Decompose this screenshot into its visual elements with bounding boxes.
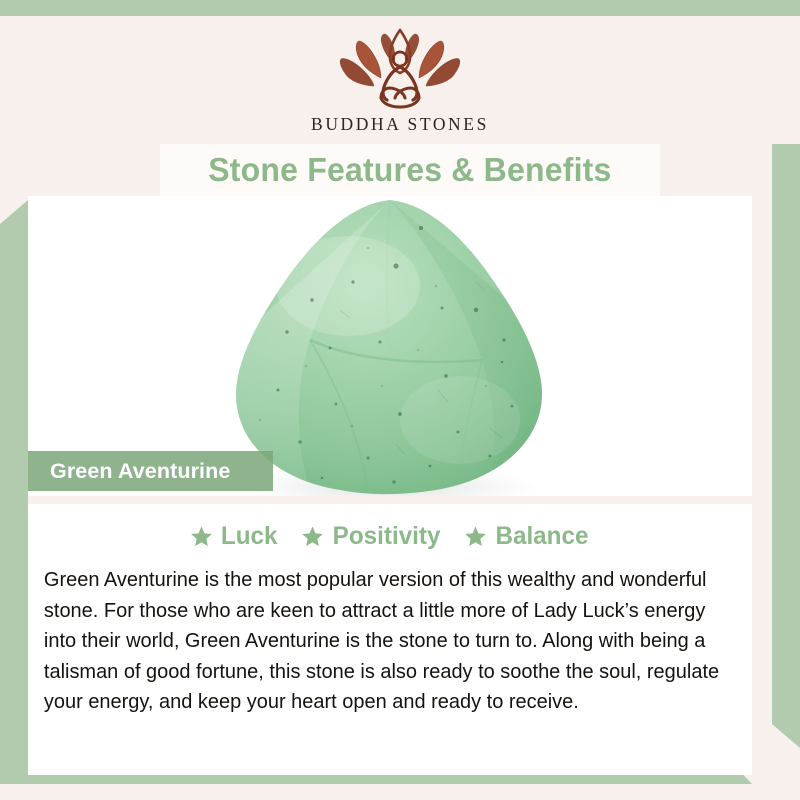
star-icon	[301, 525, 324, 548]
stone-name-band: Green Aventurine	[28, 451, 273, 491]
frame-border-left	[0, 200, 28, 775]
star-icon	[190, 525, 213, 548]
content-card: Green Aventurine Luck Positivity	[28, 196, 752, 775]
brand-logo: BUDDHA STONES	[311, 28, 489, 135]
feature-label: Balance	[495, 522, 588, 551]
brand-name: BUDDHA STONES	[311, 114, 489, 135]
star-icon	[464, 525, 487, 548]
frame-border-top	[0, 0, 800, 16]
page-title: Stone Features & Benefits	[208, 151, 611, 189]
feature-label: Positivity	[332, 522, 440, 551]
brand-header: BUDDHA STONES	[0, 16, 800, 144]
lotus-meditation-icon	[325, 28, 475, 110]
infographic-page: BUDDHA STONES Stone Features & Benefits	[0, 0, 800, 800]
feature-list: Luck Positivity Balance	[38, 522, 742, 551]
title-banner: Stone Features & Benefits	[160, 144, 660, 196]
feature-item-positivity: Positivity	[301, 522, 442, 551]
section-divider	[28, 496, 752, 504]
feature-label: Luck	[221, 522, 278, 551]
content-body: Luck Positivity Balance Green Aventurine…	[28, 496, 752, 718]
stone-photo-area: Green Aventurine	[28, 196, 752, 496]
feature-item-luck: Luck	[190, 522, 278, 551]
stone-name: Green Aventurine	[28, 459, 230, 484]
stone-description: Green Aventurine is the most popular ver…	[38, 565, 731, 718]
feature-item-balance: Balance	[464, 522, 590, 551]
